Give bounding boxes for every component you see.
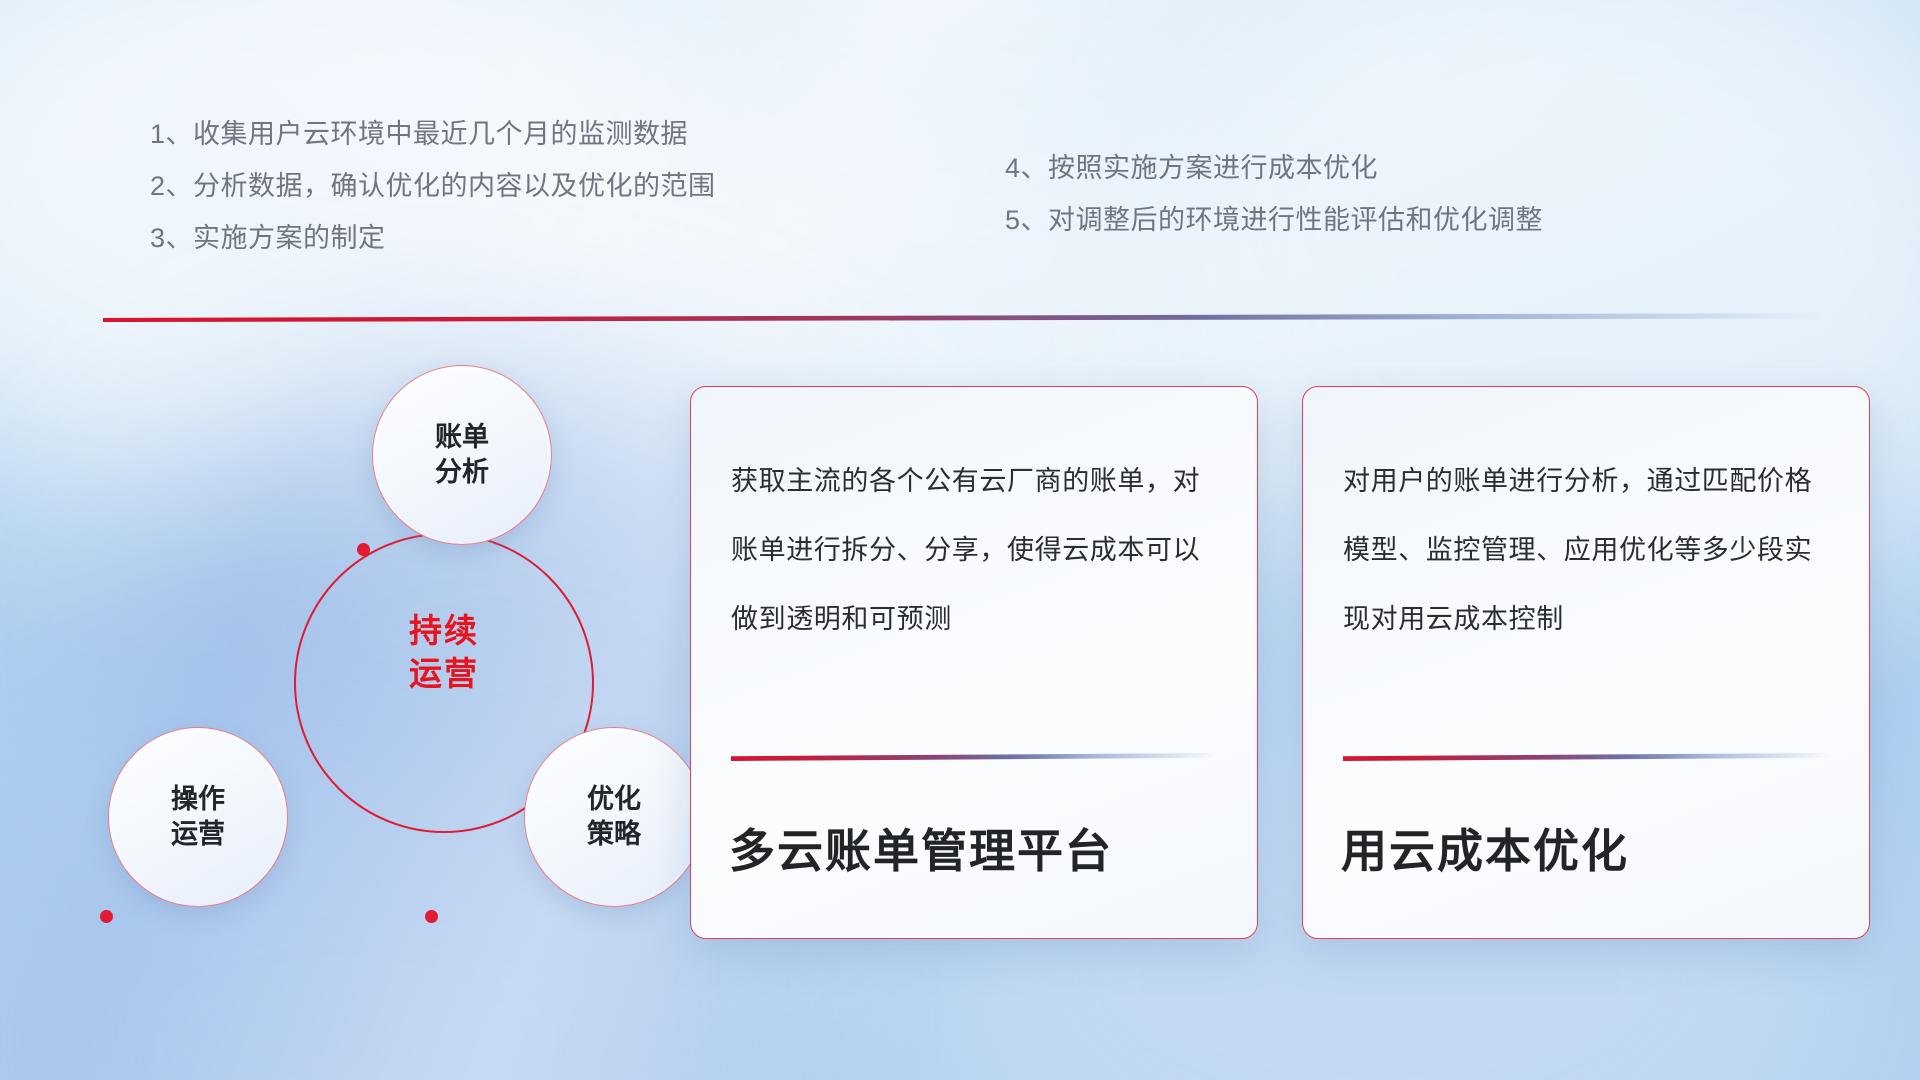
venn-bubble-optimization-strategy[interactable]: 优化 策略 xyxy=(524,727,704,907)
step-item-5: 5、对调整后的环境进行性能评估和优化调整 xyxy=(1005,194,1543,246)
card-2-body: 对用户的账单进行分析，通过匹配价格模型、监控管理、应用优化等多少段实现对用云成本… xyxy=(1343,447,1837,654)
venn-node-dot-bottom-right xyxy=(425,910,438,923)
step-item-2: 2、分析数据，确认优化的内容以及优化的范围 xyxy=(150,160,716,212)
steps-list-right: 4、按照实施方案进行成本优化 5、对调整后的环境进行性能评估和优化调整 xyxy=(1005,142,1543,246)
venn-bubble-br-line1: 优化 xyxy=(587,784,641,814)
venn-node-dot-top xyxy=(357,543,370,556)
venn-bubble-top-line2: 分析 xyxy=(435,457,489,487)
venn-bubble-br-line2: 策略 xyxy=(587,819,641,849)
venn-diagram: 账单 分析 操作 运营 优化 策略 持续 运营 xyxy=(100,355,640,935)
card-2-rule xyxy=(1343,753,1829,761)
venn-center-line2: 运营 xyxy=(294,653,594,696)
step-item-4: 4、按照实施方案进行成本优化 xyxy=(1005,142,1543,194)
card-1-rule xyxy=(731,753,1217,761)
venn-node-dot-bottom-left xyxy=(100,910,113,923)
card-2-title: 用云成本优化 xyxy=(1341,815,1839,881)
card-cloud-cost-optimization[interactable]: 对用户的账单进行分析，通过匹配价格模型、监控管理、应用优化等多少段实现对用云成本… xyxy=(1302,386,1870,939)
venn-center-label: 持续 运营 xyxy=(294,610,594,696)
card-multicloud-billing[interactable]: 获取主流的各个公有云厂商的账单，对账单进行拆分、分享，使得云成本可以做到透明和可… xyxy=(690,386,1258,939)
venn-bubble-top-line1: 账单 xyxy=(435,422,489,452)
step-item-1: 1、收集用户云环境中最近几个月的监测数据 xyxy=(150,108,716,160)
card-1-body: 获取主流的各个公有云厂商的账单，对账单进行拆分、分享，使得云成本可以做到透明和可… xyxy=(731,447,1225,654)
venn-bubble-bl-line1: 操作 xyxy=(171,784,225,814)
venn-center-line1: 持续 xyxy=(294,610,594,653)
step-item-3: 3、实施方案的制定 xyxy=(150,212,716,264)
venn-bubble-billing-analysis[interactable]: 账单 分析 xyxy=(372,365,552,545)
venn-bubble-bl-line2: 运营 xyxy=(171,819,225,849)
card-1-title: 多云账单管理平台 xyxy=(729,815,1227,881)
venn-bubble-operations[interactable]: 操作 运营 xyxy=(108,727,288,907)
steps-list-left: 1、收集用户云环境中最近几个月的监测数据 2、分析数据，确认优化的内容以及优化的… xyxy=(150,108,716,264)
